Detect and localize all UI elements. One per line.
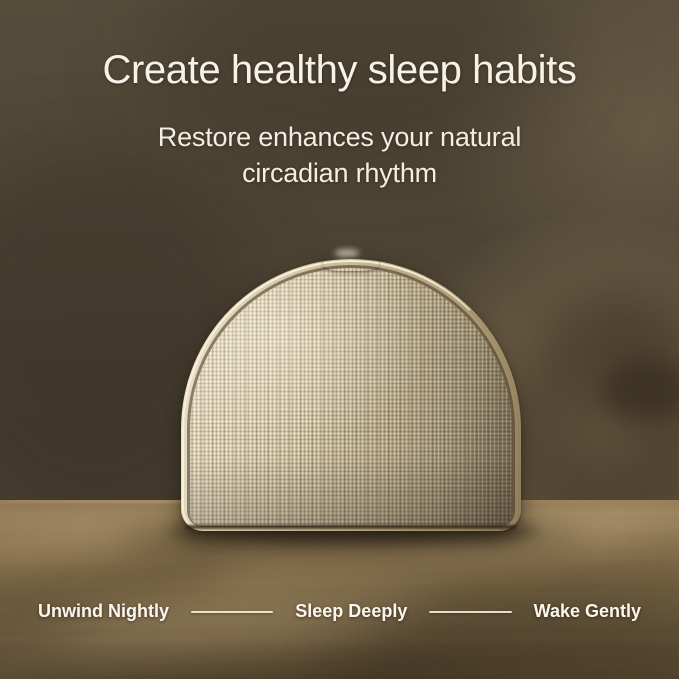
caption-divider-2 [429, 611, 511, 613]
product-base-seam [186, 525, 516, 529]
caption-unwind-nightly: Unwind Nightly [38, 601, 169, 622]
product-banner: Create healthy sleep habits Restore enha… [0, 0, 679, 679]
caption-wake-gently: Wake Gently [534, 601, 641, 622]
caption-sleep-deeply: Sleep Deeply [295, 601, 407, 622]
page-subtitle-line-1: Restore enhances your natural [0, 119, 679, 155]
page-subtitle: Restore enhances your natural circadian … [0, 119, 679, 191]
benefit-caption-row: Unwind Nightly Sleep Deeply Wake Gently [0, 601, 679, 622]
page-title: Create healthy sleep habits [0, 48, 679, 93]
rotary-knob-icon[interactable] [323, 245, 379, 271]
knob-highlight [335, 249, 359, 258]
restore-speaker[interactable] [181, 259, 521, 531]
page-subtitle-line-2: circadian rhythm [0, 155, 679, 191]
caption-divider-1 [191, 611, 273, 613]
